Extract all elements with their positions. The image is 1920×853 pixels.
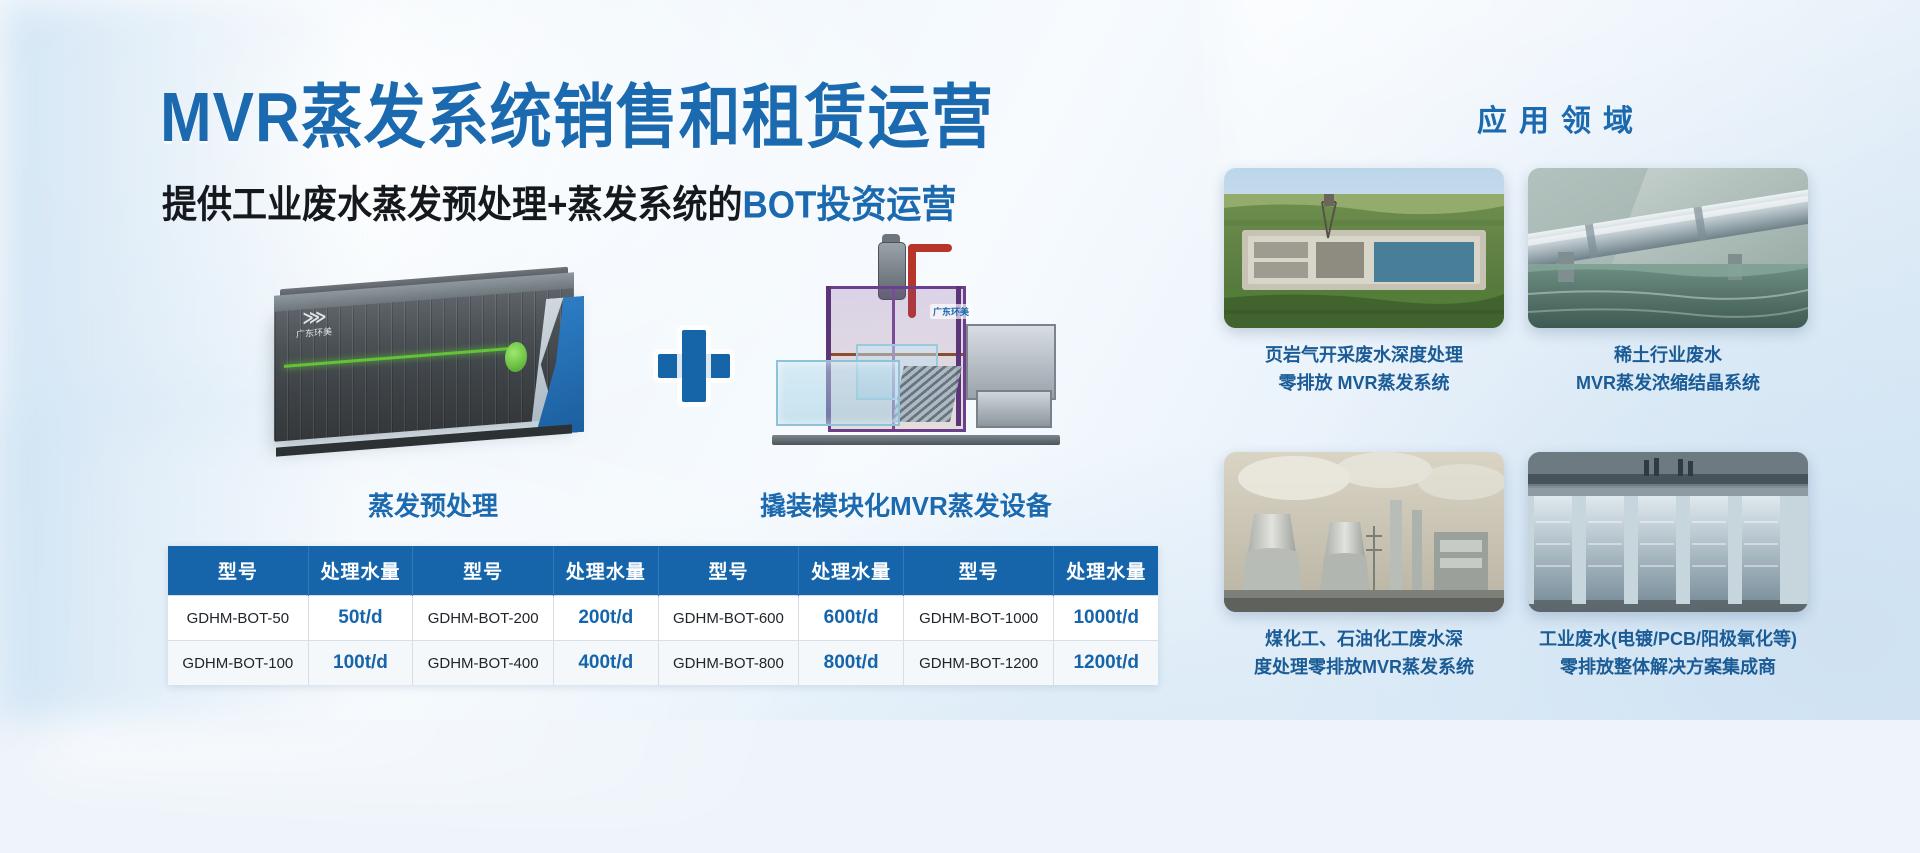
capacity-cell: 100t/d [308,641,413,686]
evaporation-pretreatment-unit-image: ⋙ 广东环美 [260,278,590,453]
caption-line-2: 零排放整体解决方案集成商 [1528,654,1808,682]
caption-line-2: MVR蒸发浓缩结晶系统 [1528,370,1808,398]
right-equipment-caption: 撬装模块化MVR蒸发设备 [760,486,1052,523]
industrial-wastewater-tanks-photo [1528,452,1808,612]
plus-icon [658,330,730,402]
skid-mounted-mvr-equipment-image: 广东环美 [770,240,1100,455]
capacity-cell: 400t/d [554,641,659,686]
table-header-cell: 型号 [413,546,554,596]
caption-line-2: 度处理零排放MVR蒸发系统 [1224,654,1504,682]
table-header-cell: 型号 [168,546,308,596]
page-subtitle: 提供工业废水蒸发预处理+蒸发系统的BOT投资运营 [162,186,956,224]
equipment-row: ⋙ 广东环美 广东环美 [150,250,1160,480]
caption-line-1: 稀土行业废水 [1528,342,1808,370]
model-cell: GDHM-BOT-800 [658,641,799,686]
application-card-caption: 煤化工、石油化工废水深 度处理零排放MVR蒸发系统 [1224,626,1504,682]
application-card-rare-earth[interactable]: 稀土行业废水 MVR蒸发浓缩结晶系统 [1528,168,1808,398]
table-row: GDHM-BOT-50 50t/d GDHM-BOT-200 200t/d GD… [168,596,1158,641]
caption-line-2: 零排放 MVR蒸发系统 [1224,370,1504,398]
model-cell: GDHM-BOT-600 [658,596,799,641]
rare-earth-pipeline-photo [1528,168,1808,328]
table-header-cell: 处理水量 [799,546,904,596]
table-header-cell: 处理水量 [308,546,413,596]
application-card-caption: 稀土行业废水 MVR蒸发浓缩结晶系统 [1528,342,1808,398]
applications-column: 应用领域 [1190,0,1920,720]
container-brand-mark: ⋙ 广东环美 [296,307,332,341]
application-card-industrial-wastewater[interactable]: 工业废水(电镀/PCB/阳极氧化等) 零排放整体解决方案集成商 [1528,452,1808,682]
table-header-cell: 型号 [658,546,799,596]
capacity-cell: 600t/d [799,596,904,641]
shale-gas-field-photo [1224,168,1504,328]
capacity-cell: 1000t/d [1054,596,1158,641]
caption-line-1: 工业废水(电镀/PCB/阳极氧化等) [1528,626,1808,654]
plant-brand-text: 广东环美 [930,304,972,319]
model-cell: GDHM-BOT-200 [413,596,554,641]
model-cell: GDHM-BOT-400 [413,641,554,686]
coal-chemical-plant-photo [1224,452,1504,612]
subtitle-plain-text: 提供工业废水蒸发预处理+蒸发系统的 [162,184,742,226]
banner-root: MVR蒸发系统销售和租赁运营 提供工业废水蒸发预处理+蒸发系统的BOT投资运营 … [0,0,1920,720]
table-header-row: 型号 处理水量 型号 处理水量 型号 处理水量 型号 处理水量 [168,546,1158,596]
application-card-caption: 工业废水(电镀/PCB/阳极氧化等) 零排放整体解决方案集成商 [1528,626,1808,682]
table-row: GDHM-BOT-100 100t/d GDHM-BOT-400 400t/d … [168,641,1158,686]
model-cell: GDHM-BOT-100 [168,641,308,686]
capacity-cell: 1200t/d [1054,641,1158,686]
page-title: MVR蒸发系统销售和租赁运营 [160,84,994,153]
application-card-coal-chemical[interactable]: 煤化工、石油化工废水深 度处理零排放MVR蒸发系统 [1224,452,1504,682]
application-card-caption: 页岩气开采废水深度处理 零排放 MVR蒸发系统 [1224,342,1504,398]
table-header-cell: 型号 [903,546,1054,596]
capacity-cell: 200t/d [554,596,659,641]
model-cell: GDHM-BOT-1000 [903,596,1054,641]
caption-line-1: 煤化工、石油化工废水深 [1224,626,1504,654]
table-header-cell: 处理水量 [1054,546,1158,596]
table-header-cell: 处理水量 [554,546,659,596]
applications-section-title: 应用领域 [1190,96,1920,140]
capacity-cell: 800t/d [799,641,904,686]
model-cell: GDHM-BOT-50 [168,596,308,641]
specification-table: 型号 处理水量 型号 处理水量 型号 处理水量 型号 处理水量 GDHM-BOT… [168,546,1158,685]
model-cell: GDHM-BOT-1200 [903,641,1054,686]
left-equipment-caption: 蒸发预处理 [368,486,498,523]
caption-line-1: 页岩气开采废水深度处理 [1224,342,1504,370]
subtitle-highlight-text: BOT投资运营 [742,184,956,226]
left-column: MVR蒸发系统销售和租赁运营 提供工业废水蒸发预处理+蒸发系统的BOT投资运营 … [0,0,1190,720]
capacity-cell: 50t/d [308,596,413,641]
application-card-shale-gas[interactable]: 页岩气开采废水深度处理 零排放 MVR蒸发系统 [1224,168,1504,398]
